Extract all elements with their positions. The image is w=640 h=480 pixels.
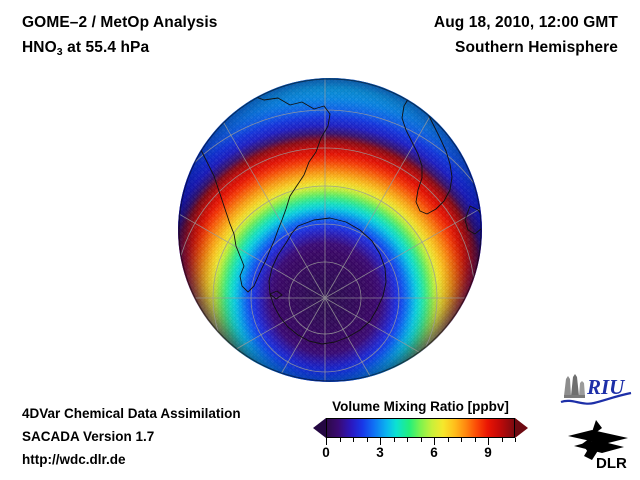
colorbar-scale: 0369 xyxy=(313,418,528,438)
figure-canvas: GOME–2 / MetOp Analysis HNO3 at 55.4 hPa… xyxy=(0,0,640,480)
colorbar-minor-tick xyxy=(461,438,462,442)
analysis-title: GOME–2 / MetOp Analysis xyxy=(22,10,218,35)
colorbar-minor-tick xyxy=(340,438,341,442)
riu-towers-icon xyxy=(564,374,585,398)
colorbar-major-tick xyxy=(326,438,327,445)
graticule-meridians xyxy=(178,78,482,382)
header-right: Aug 18, 2010, 12:00 GMT Southern Hemisph… xyxy=(434,10,618,60)
coastlines xyxy=(192,94,482,370)
map-overlay xyxy=(178,78,482,382)
coastline-new-zealand xyxy=(220,360,238,370)
colorbar-major-tick xyxy=(488,438,489,445)
dlr-logo: DLR xyxy=(566,418,632,470)
colorbar-minor-tick xyxy=(448,438,449,442)
colorbar-major-tick xyxy=(434,438,435,445)
timestamp-label: Aug 18, 2010, 12:00 GMT xyxy=(434,10,618,35)
colorbar-minor-tick xyxy=(475,438,476,442)
colorbar-minor-tick xyxy=(367,438,368,442)
colorbar-minor-tick xyxy=(421,438,422,442)
colorbar-minor-tick xyxy=(394,438,395,442)
riu-logo: RIU xyxy=(558,372,634,412)
footer-line-method: 4DVar Chemical Data Assimilation xyxy=(22,402,241,425)
species-subscript: 3 xyxy=(57,46,63,58)
footer-text: 4DVar Chemical Data Assimilation SACADA … xyxy=(22,402,241,471)
colorbar-over-arrow xyxy=(515,418,528,438)
colorbar-tick-label: 3 xyxy=(376,445,384,460)
colorbar-tick-label: 0 xyxy=(322,445,330,460)
footer-line-version: SACADA Version 1.7 xyxy=(22,425,241,448)
colorbar: Volume Mixing Ratio [ppbv] 0369 xyxy=(313,399,528,438)
graticule-latitude-circles xyxy=(178,110,482,382)
species-level-title: HNO3 at 55.4 hPa xyxy=(22,35,218,62)
dlr-wordmark: DLR xyxy=(596,455,627,470)
colorbar-tick-labels: 0369 xyxy=(326,445,515,463)
dlr-mark-icon xyxy=(568,420,628,460)
colorbar-major-tick xyxy=(380,438,381,445)
colorbar-under-arrow xyxy=(313,418,326,438)
hemisphere-label: Southern Hemisphere xyxy=(434,35,618,60)
header-left: GOME–2 / MetOp Analysis HNO3 at 55.4 hPa xyxy=(22,10,218,62)
colorbar-title: Volume Mixing Ratio [ppbv] xyxy=(313,399,528,414)
colorbar-ticks xyxy=(326,438,515,445)
coastline-south-america xyxy=(192,94,330,292)
pressure-level-label: at 55.4 hPa xyxy=(63,39,150,56)
colorbar-minor-tick xyxy=(353,438,354,442)
colorbar-minor-tick xyxy=(515,438,516,442)
coastline-antarctica xyxy=(269,218,386,344)
polar-stereographic-map xyxy=(178,78,482,382)
colorbar-gradient xyxy=(326,418,515,438)
colorbar-tick-label: 6 xyxy=(430,445,438,460)
colorbar-minor-tick xyxy=(407,438,408,442)
footer-line-url[interactable]: http://wdc.dlr.de xyxy=(22,448,241,471)
colorbar-tick-label: 9 xyxy=(484,445,492,460)
species-label: HNO xyxy=(22,39,57,56)
colorbar-minor-tick xyxy=(502,438,503,442)
